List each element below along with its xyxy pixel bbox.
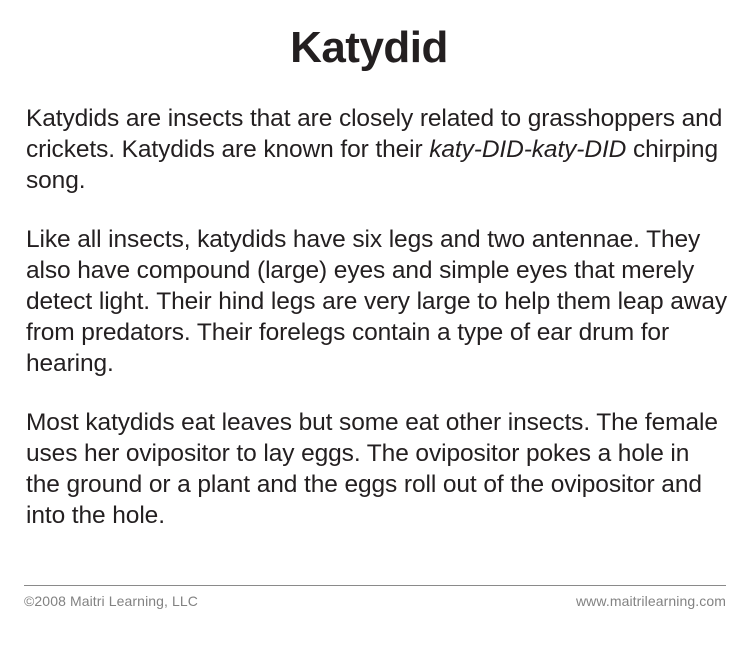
document-page: Katydid Katydids are insects that are cl…: [0, 0, 738, 656]
page-title: Katydid: [0, 0, 738, 74]
footer-website: www.maitrilearning.com: [576, 592, 726, 610]
document-body: Katydids are insects that are closely re…: [26, 103, 728, 531]
paragraph-1: Katydids are insects that are closely re…: [26, 103, 728, 196]
paragraph-1-italic-phrase: katy-DID-katy-DID: [429, 136, 626, 163]
paragraph-3: Most katydids eat leaves but some eat ot…: [26, 407, 728, 531]
paragraph-2: Like all insects, katydids have six legs…: [26, 224, 728, 379]
footer-copyright: ©2008 Maitri Learning, LLC: [24, 592, 198, 610]
page-footer: ©2008 Maitri Learning, LLC www.maitrilea…: [24, 585, 726, 610]
